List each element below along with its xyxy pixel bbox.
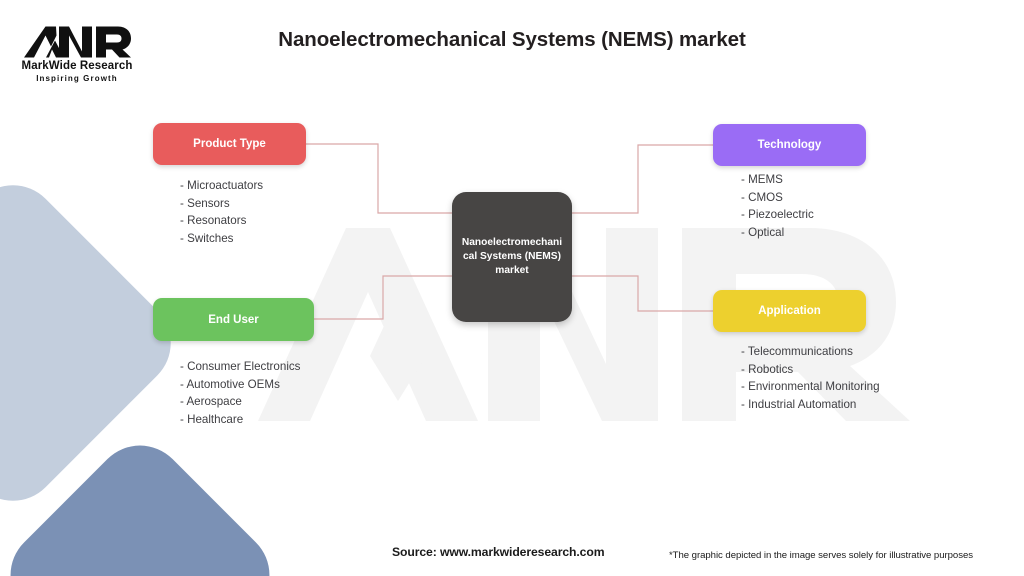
connector-end-user [314, 276, 452, 319]
branch-list-technology: - MEMS - CMOS - Piezoelectric - Optical [741, 171, 814, 241]
branch-node-application[interactable]: Application [713, 290, 866, 332]
page-title: Nanoelectromechanical Systems (NEMS) mar… [160, 28, 864, 52]
disclaimer-label: *The graphic depicted in the image serve… [669, 550, 973, 561]
list-item: - Automotive OEMs [180, 376, 300, 394]
list-item: - Consumer Electronics [180, 358, 300, 376]
list-item: - Resonators [180, 212, 263, 230]
list-item: - CMOS [741, 189, 814, 207]
connector-product-type [306, 144, 452, 213]
connector-technology [572, 145, 713, 213]
center-node-label: Nanoelectromechani cal Systems (NEMS) ma… [456, 236, 568, 278]
center-label-line-3: market [495, 265, 528, 276]
list-item: - Sensors [180, 195, 263, 213]
branch-label-technology: Technology [758, 139, 822, 151]
list-item: - Optical [741, 224, 814, 242]
list-item: - Piezoelectric [741, 206, 814, 224]
decorative-square-light [0, 166, 190, 520]
decorative-square-dark [0, 427, 288, 576]
source-label: Source: www.markwideresearch.com [392, 545, 604, 559]
infographic-canvas: MarkWide Research Inspiring Growth Nanoe… [0, 0, 1024, 576]
center-label-line-2: cal Systems (NEMS) [463, 251, 561, 262]
list-item: - Telecommunications [741, 343, 880, 361]
list-item: - Aerospace [180, 393, 300, 411]
list-item: - Microactuators [180, 177, 263, 195]
branch-node-technology[interactable]: Technology [713, 124, 866, 166]
mwr-monogram-icon [23, 25, 131, 59]
list-item: - Switches [180, 230, 263, 248]
branch-list-application: - Telecommunications - Robotics - Enviro… [741, 343, 880, 413]
brand-tagline: Inspiring Growth [17, 73, 137, 84]
branch-list-product-type: - Microactuators - Sensors - Resonators … [180, 177, 263, 247]
center-node[interactable]: Nanoelectromechani cal Systems (NEMS) ma… [452, 192, 572, 322]
list-item: - Industrial Automation [741, 396, 880, 414]
branch-label-end-user: End User [208, 314, 259, 326]
brand-logo: MarkWide Research Inspiring Growth [17, 25, 137, 85]
connector-application [572, 276, 713, 311]
branch-node-end-user[interactable]: End User [153, 298, 314, 341]
branch-node-product-type[interactable]: Product Type [153, 123, 306, 165]
list-item: - Environmental Monitoring [741, 378, 880, 396]
branch-label-product-type: Product Type [193, 138, 266, 150]
branch-list-end-user: - Consumer Electronics - Automotive OEMs… [180, 358, 300, 428]
list-item: - Robotics [741, 361, 880, 379]
brand-name: MarkWide Research [17, 60, 137, 73]
list-item: - MEMS [741, 171, 814, 189]
branch-label-application: Application [758, 305, 821, 317]
center-label-line-1: Nanoelectromechani [462, 237, 562, 248]
list-item: - Healthcare [180, 411, 300, 429]
